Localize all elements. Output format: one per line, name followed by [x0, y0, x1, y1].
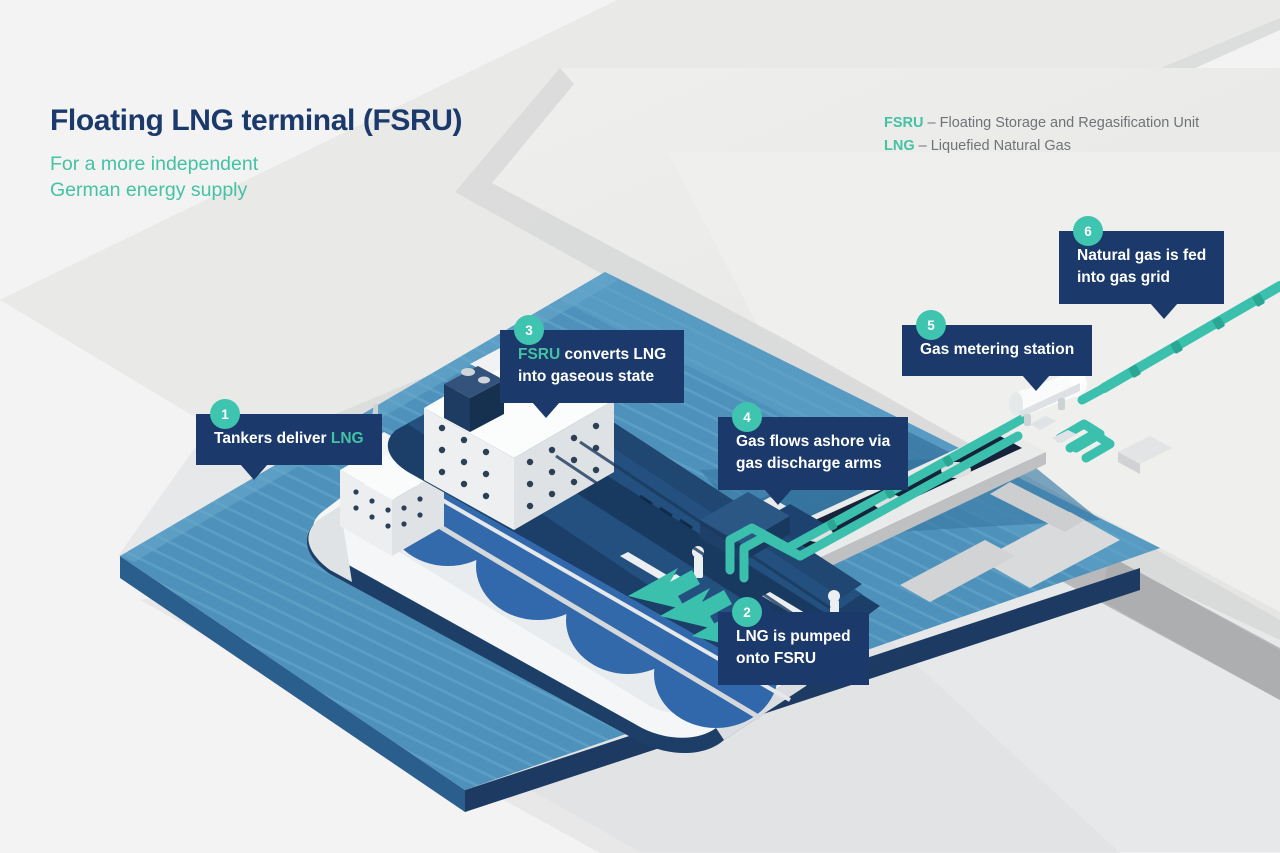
callout-4-tail	[764, 489, 792, 505]
page-title: Floating LNG terminal (FSRU)	[50, 104, 462, 139]
callout-1-line-1: Tankers deliver LNG	[214, 428, 364, 450]
callout-3-badge: 3	[514, 315, 544, 345]
legend-text-lng: Liquefied Natural Gas	[931, 138, 1071, 154]
callout-6-tail	[1150, 303, 1178, 319]
callout-3-highlight: FSRU	[518, 346, 560, 363]
callout-5-line-1: Gas metering station	[920, 339, 1074, 361]
callout-6-badge: 6	[1073, 216, 1103, 246]
callout-4-badge: 4	[732, 402, 762, 432]
callout-1-badge: 1	[210, 399, 240, 429]
callout-2-line-1: LNG is pumped	[736, 626, 851, 648]
callout-5-gas-metering-station[interactable]: 5 Gas metering station	[902, 325, 1092, 376]
infographic-canvas: Floating LNG terminal (FSRU) For a more …	[0, 0, 1280, 853]
callout-1-tankers-deliver-lng[interactable]: 1 Tankers deliver LNG	[196, 414, 382, 465]
callout-3-tail	[532, 402, 560, 418]
callout-4-gas-flows-ashore[interactable]: 4 Gas flows ashore via gas discharge arm…	[718, 417, 908, 490]
callout-3-line-1: FSRU converts LNG	[518, 344, 666, 366]
callout-4-line-1: Gas flows ashore via	[736, 431, 890, 453]
legend-abbr-lng: LNG	[884, 138, 915, 154]
callout-2-badge: 2	[732, 597, 762, 627]
abbreviation-legend: FSRU – Floating Storage and Regasificati…	[884, 112, 1199, 159]
callout-5-badge: 5	[916, 310, 946, 340]
legend-text-fsru: Floating Storage and Regasification Unit	[940, 115, 1200, 131]
callout-1-tail	[240, 464, 268, 480]
callout-1-text-pre: Tankers deliver	[214, 430, 331, 447]
legend-row-fsru: FSRU – Floating Storage and Regasificati…	[884, 112, 1199, 135]
callout-6-natural-gas-into-grid[interactable]: 6 Natural gas is fed into gas grid	[1059, 231, 1224, 304]
callout-2-lng-is-pumped-onto-fsru[interactable]: 2 LNG is pumped onto FSRU	[718, 612, 869, 685]
legend-abbr-fsru: FSRU	[884, 115, 923, 131]
callout-2-line-2: onto FSRU	[736, 648, 851, 670]
title-block: Floating LNG terminal (FSRU) For a more …	[50, 104, 462, 204]
callout-6-line-1: Natural gas is fed	[1077, 245, 1206, 267]
page-subtitle: For a more independent German energy sup…	[50, 151, 462, 205]
callout-3-text-post: converts LNG	[560, 346, 666, 363]
subtitle-line-2: German energy supply	[50, 177, 462, 204]
subtitle-line-1: For a more independent	[50, 151, 462, 178]
callout-4-line-2: gas discharge arms	[736, 453, 890, 475]
callout-3-line-2: into gaseous state	[518, 366, 666, 388]
legend-row-lng: LNG – Liquefied Natural Gas	[884, 135, 1199, 158]
callout-1-highlight: LNG	[331, 430, 364, 447]
callout-3-fsru-converts-lng[interactable]: 3 FSRU converts LNG into gaseous state	[500, 330, 684, 403]
legend-dash-fsru: –	[923, 115, 939, 131]
callout-5-tail	[1022, 375, 1050, 391]
callout-6-line-2: into gas grid	[1077, 267, 1206, 289]
legend-dash-lng: –	[915, 138, 931, 154]
